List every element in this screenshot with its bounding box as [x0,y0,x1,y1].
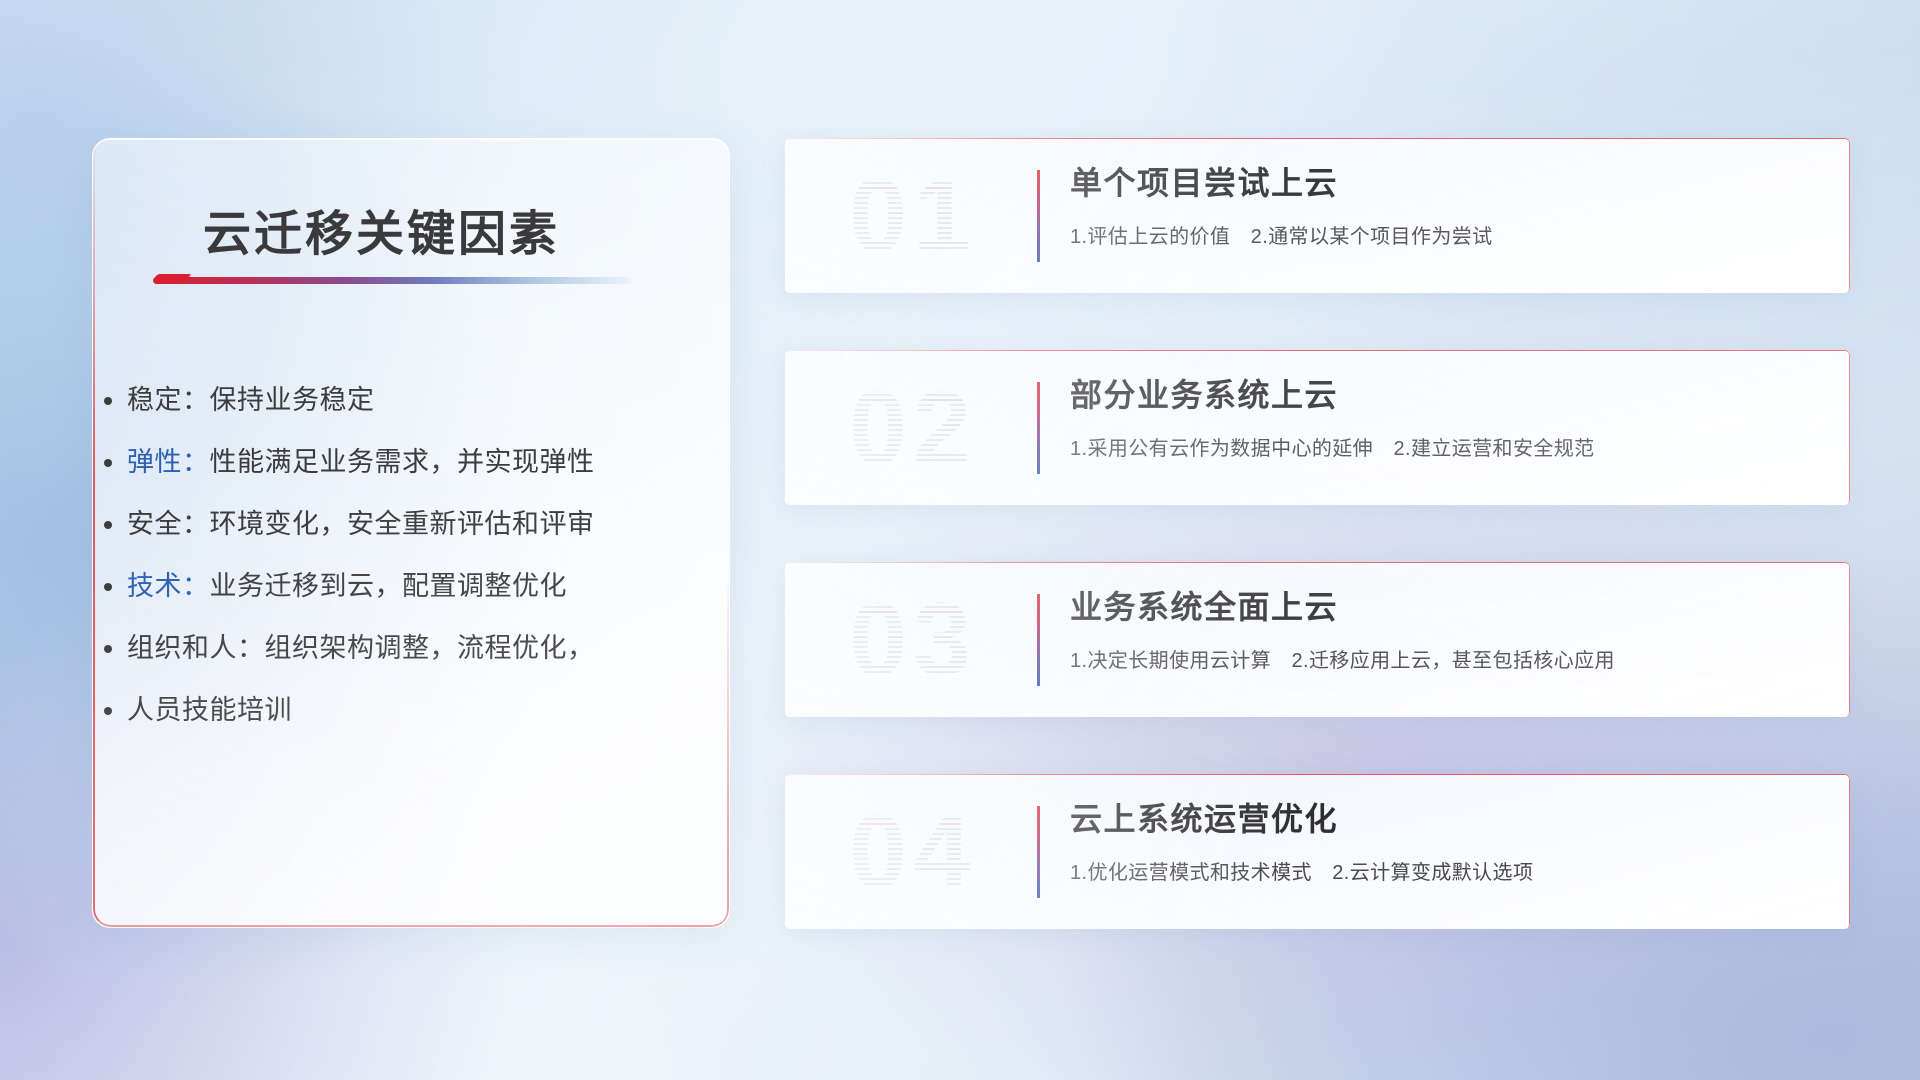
key-factors-list: 稳定：保持业务稳定弹性：性能满足业务需求，并实现弹性安全：环境变化，安全重新评估… [127,369,707,741]
stage-title: 业务系统全面上云 [1070,584,1826,630]
stage-detail: 1.采用公有云作为数据中心的延伸 2.建立运营和安全规范 [1070,432,1826,461]
factor-row: 安全：环境变化，安全重新评估和评审 [127,493,707,555]
stage-divider-bar [1037,806,1040,898]
stage-card[interactable]: 0101单个项目尝试上云1.评估上云的价值 2.通常以某个项目作为尝试 [785,138,1850,293]
factor-row: 稳定：保持业务稳定 [127,369,707,431]
stage-number-text: 02 [849,369,977,488]
stage-title: 部分业务系统上云 [1070,372,1826,418]
stage-content: 业务系统全面上云1.决定长期使用云计算 2.迁移应用上云，甚至包括核心应用 [1070,584,1826,673]
stage-number-tint: 03 [813,576,1013,704]
factor-text: 业务迁移到云，配置调整优化 [210,571,568,601]
factor-label: 安全： [127,509,210,539]
slide-canvas: 云迁移关键因素 稳定：保持业务稳定弹性：性能满足业务需求，并实现弹性安全：环境变… [0,0,1920,1080]
factor-text: 人员技能培训 [127,695,292,725]
factor-label: 弹性： [127,447,210,477]
stage-content: 云上系统运营优化1.优化运营模式和技术模式 2.云计算变成默认选项 [1070,796,1826,885]
factor-text: 保持业务稳定 [210,385,375,415]
stage-content: 部分业务系统上云1.采用公有云作为数据中心的延伸 2.建立运营和安全规范 [1070,372,1826,461]
factor-label: 技术： [127,571,210,601]
stage-number-text: 04 [849,793,977,912]
stage-card[interactable]: 0404云上系统运营优化1.优化运营模式和技术模式 2.云计算变成默认选项 [785,774,1850,929]
factor-label: 组织和人： [127,633,265,663]
stage-card[interactable]: 0202部分业务系统上云1.采用公有云作为数据中心的延伸 2.建立运营和安全规范 [785,350,1850,505]
stage-title: 云上系统运营优化 [1070,796,1826,842]
stage-divider-bar [1037,170,1040,262]
stage-detail: 1.决定长期使用云计算 2.迁移应用上云，甚至包括核心应用 [1070,644,1826,673]
factor-text: 性能满足业务需求，并实现弹性 [210,447,595,477]
stage-number-ghost: 0404 [813,788,1013,916]
stage-number-tint: 04 [813,788,1013,916]
stage-divider-bar [1037,382,1040,474]
stage-number-tint: 01 [813,152,1013,280]
title-underline-gradient [153,277,633,284]
cloud-migration-stages: 0101单个项目尝试上云1.评估上云的价值 2.通常以某个项目作为尝试0202部… [785,138,1850,986]
stage-detail: 1.评估上云的价值 2.通常以某个项目作为尝试 [1070,220,1826,249]
stage-detail: 1.优化运营模式和技术模式 2.云计算变成默认选项 [1070,856,1826,885]
stage-content: 单个项目尝试上云1.评估上云的价值 2.通常以某个项目作为尝试 [1070,160,1826,249]
factor-row: 弹性：性能满足业务需求，并实现弹性 [127,431,707,493]
key-factors-panel: 云迁移关键因素 稳定：保持业务稳定弹性：性能满足业务需求，并实现弹性安全：环境变… [92,138,730,928]
stage-number-ghost: 0303 [813,576,1013,704]
factor-text: 环境变化，安全重新评估和评审 [210,509,595,539]
stage-number-ghost: 0101 [813,152,1013,280]
factor-row: 技术：业务迁移到云，配置调整优化 [127,555,707,617]
stage-number-text: 01 [849,157,977,276]
stage-title: 单个项目尝试上云 [1070,160,1826,206]
stage-card[interactable]: 0303业务系统全面上云1.决定长期使用云计算 2.迁移应用上云，甚至包括核心应… [785,562,1850,717]
factor-row: 组织和人：组织架构调整，流程优化， [127,617,707,679]
stage-number-tint: 02 [813,364,1013,492]
factor-text: 组织架构调整，流程优化， [265,633,595,663]
page-title: 云迁移关键因素 [203,194,560,264]
stage-number-text: 03 [849,581,977,700]
factor-row: 人员技能培训 [127,679,707,741]
stage-number-ghost: 0202 [813,364,1013,492]
factor-label: 稳定： [127,385,210,415]
stage-divider-bar [1037,594,1040,686]
